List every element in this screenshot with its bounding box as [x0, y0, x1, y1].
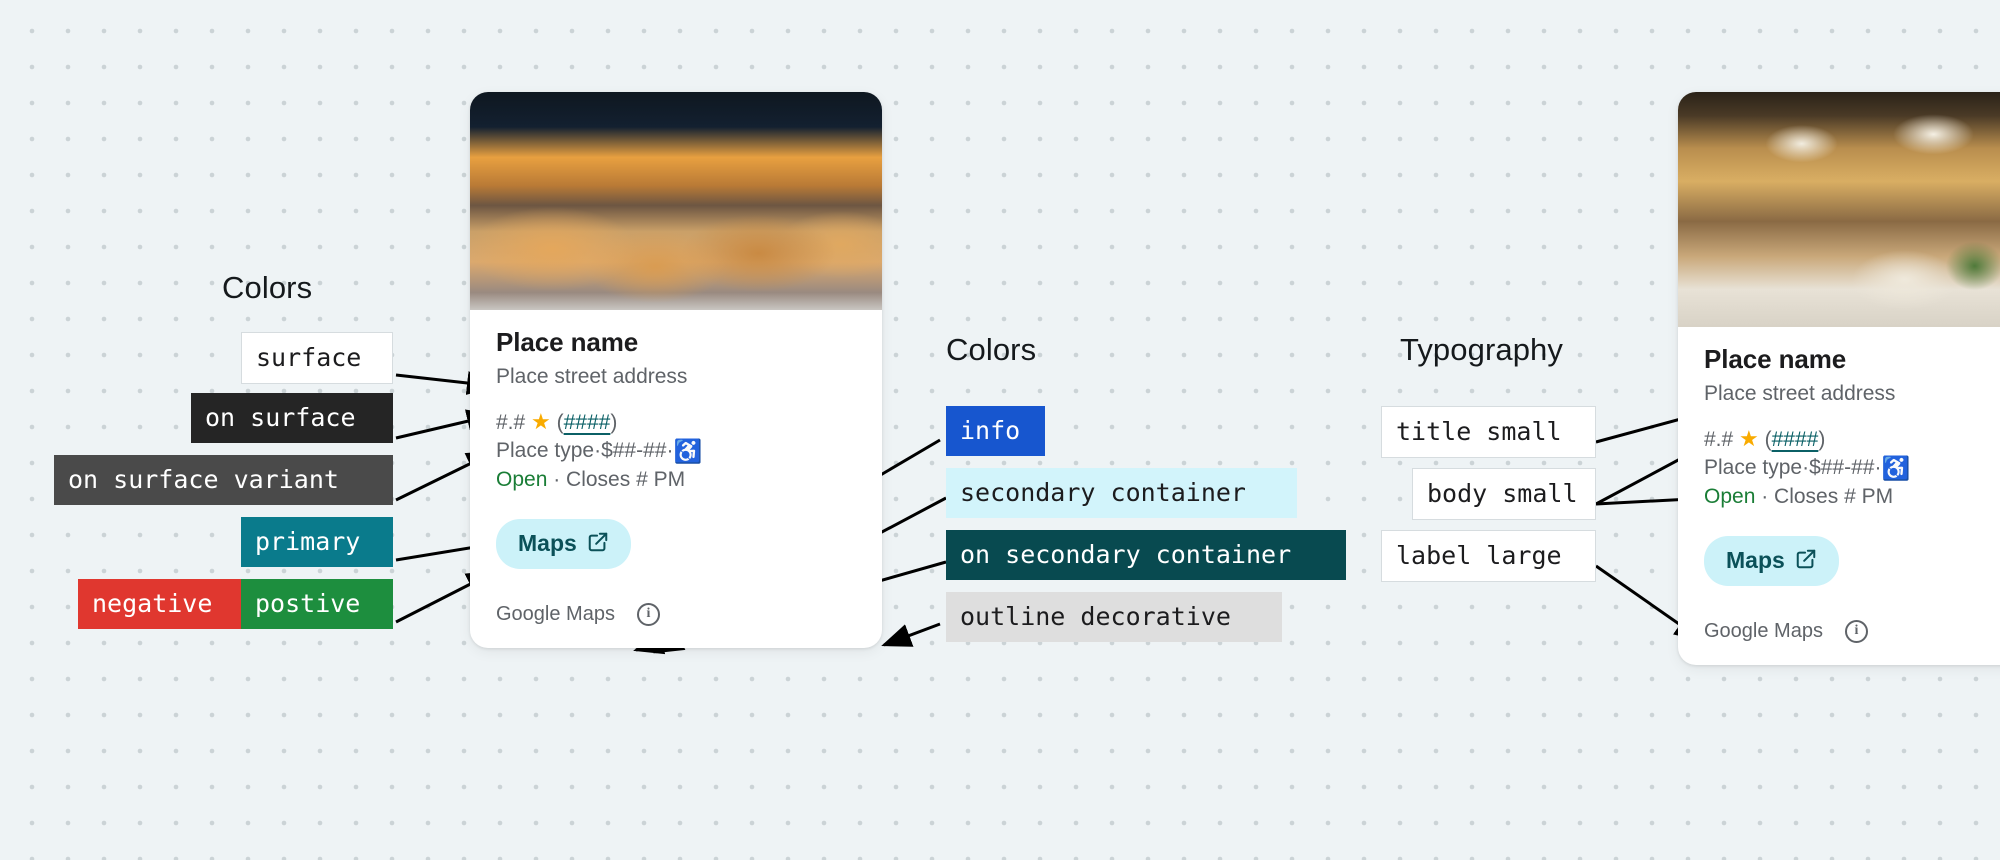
- swatch-on-secondary-container: on secondary container: [946, 530, 1346, 580]
- swatch-surface: surface: [241, 332, 393, 384]
- swatch-positive: postive: [241, 579, 393, 629]
- colors-left-section-title: Colors: [222, 270, 312, 306]
- info-icon-right[interactable]: i: [1845, 620, 1868, 643]
- swatch-on-surface-variant-label: on surface variant: [68, 465, 339, 494]
- place-rating-row: #.# ★ (####): [496, 408, 856, 436]
- place-name-right: Place name: [1704, 345, 2000, 375]
- rating-count[interactable]: ####: [564, 411, 611, 434]
- info-icon-glyph: i: [647, 606, 651, 622]
- place-address: Place street address: [496, 364, 856, 389]
- rating-value: #.#: [496, 411, 525, 434]
- meta-separator-1-right: ·: [1802, 455, 1809, 481]
- swatch-body-small-label: body small: [1427, 479, 1578, 508]
- closing-time-right: Closes # PM: [1774, 485, 1893, 508]
- meta-separator-1: ·: [594, 438, 601, 464]
- map-attribution: Google Maps: [496, 603, 615, 626]
- map-attribution-right: Google Maps: [1704, 620, 1823, 643]
- place-rating-row-right: #.# ★ (####): [1704, 425, 2000, 453]
- hours-separator: ·: [547, 468, 566, 491]
- card-footer: Google Maps i: [496, 603, 856, 626]
- colors-center-section-title: Colors: [946, 332, 1036, 368]
- place-price-right: $##-##: [1809, 455, 1874, 481]
- swatch-secondary-container-label: secondary container: [960, 478, 1246, 507]
- swatch-on-surface-label: on surface: [205, 403, 356, 432]
- swatch-outline-decorative: outline decorative: [946, 592, 1282, 642]
- maps-button-label: Maps: [518, 532, 577, 555]
- place-photo-bakery: [470, 92, 882, 310]
- swatch-on-surface: on surface: [191, 393, 393, 443]
- design-annotation-canvas: Colors surface on surface on surface var…: [0, 0, 2000, 860]
- swatch-primary: primary: [241, 517, 393, 567]
- place-type: Place type: [496, 438, 594, 464]
- swatch-negative: negative: [78, 579, 241, 629]
- place-hours-row: Open · Closes # PM: [496, 467, 856, 493]
- swatch-label-large-label: label large: [1396, 541, 1562, 570]
- place-card-body-right: Place name Place street address #.# ★ (#…: [1678, 327, 2000, 665]
- open-status-right: Open: [1704, 485, 1755, 508]
- rating-close-paren: ): [610, 411, 617, 434]
- swatch-info-label: info: [960, 416, 1020, 445]
- swatch-body-small: body small: [1412, 468, 1596, 520]
- star-icon: ★: [531, 409, 551, 434]
- rating-count-right[interactable]: ####: [1772, 428, 1819, 451]
- swatch-title-small: title small: [1381, 406, 1596, 458]
- arrow-outline-decorative: [884, 624, 940, 645]
- swatch-surface-label: surface: [256, 343, 361, 372]
- open-in-new-icon: [587, 531, 609, 557]
- place-meta-row-right: Place type · $##-## · ♿: [1704, 455, 2000, 481]
- place-type-right: Place type: [1704, 455, 1802, 481]
- rating-open-paren: (: [557, 411, 564, 434]
- swatch-secondary-container: secondary container: [946, 468, 1297, 518]
- wheelchair-accessible-icon: ♿: [673, 440, 702, 463]
- place-card-center[interactable]: Place name Place street address #.# ★ (#…: [470, 92, 882, 648]
- rating-close-paren-right: ): [1818, 428, 1825, 451]
- swatch-on-surface-variant: on surface variant: [54, 455, 393, 505]
- card-footer-right: Google Maps i: [1704, 620, 2000, 643]
- meta-separator-2-right: ·: [1874, 455, 1881, 481]
- rating-value-right: #.#: [1704, 428, 1733, 451]
- open-in-new-icon-right: [1795, 548, 1817, 574]
- place-name: Place name: [496, 328, 856, 358]
- info-icon-glyph-right: i: [1855, 623, 1859, 639]
- place-card-body: Place name Place street address #.# ★ (#…: [470, 310, 882, 648]
- star-icon-right: ★: [1739, 426, 1759, 451]
- wheelchair-accessible-icon-right: ♿: [1881, 457, 1910, 480]
- swatch-outline-decorative-label: outline decorative: [960, 602, 1231, 631]
- swatch-positive-label: postive: [255, 589, 360, 618]
- meta-separator-2: ·: [666, 438, 673, 464]
- maps-button[interactable]: Maps: [496, 519, 631, 569]
- place-card-right[interactable]: Place name Place street address #.# ★ (#…: [1678, 92, 2000, 665]
- swatch-title-small-label: title small: [1396, 417, 1562, 446]
- swatch-on-secondary-container-label: on secondary container: [960, 540, 1291, 569]
- rating-open-paren-right: (: [1765, 428, 1772, 451]
- hours-separator-right: ·: [1755, 485, 1774, 508]
- place-photo-cafe: [1678, 92, 2000, 327]
- open-status: Open: [496, 468, 547, 491]
- swatch-negative-label: negative: [92, 589, 212, 618]
- typography-section-title: Typography: [1400, 332, 1563, 368]
- closing-time: Closes # PM: [566, 468, 685, 491]
- swatch-label-large: label large: [1381, 530, 1596, 582]
- place-hours-row-right: Open · Closes # PM: [1704, 484, 2000, 510]
- place-price: $##-##: [601, 438, 666, 464]
- maps-button-label-right: Maps: [1726, 549, 1785, 572]
- swatch-info: info: [946, 406, 1045, 456]
- maps-button-right[interactable]: Maps: [1704, 536, 1839, 586]
- place-meta-row: Place type · $##-## · ♿: [496, 438, 856, 464]
- place-address-right: Place street address: [1704, 381, 2000, 406]
- info-icon[interactable]: i: [637, 603, 660, 626]
- swatch-primary-label: primary: [255, 527, 360, 556]
